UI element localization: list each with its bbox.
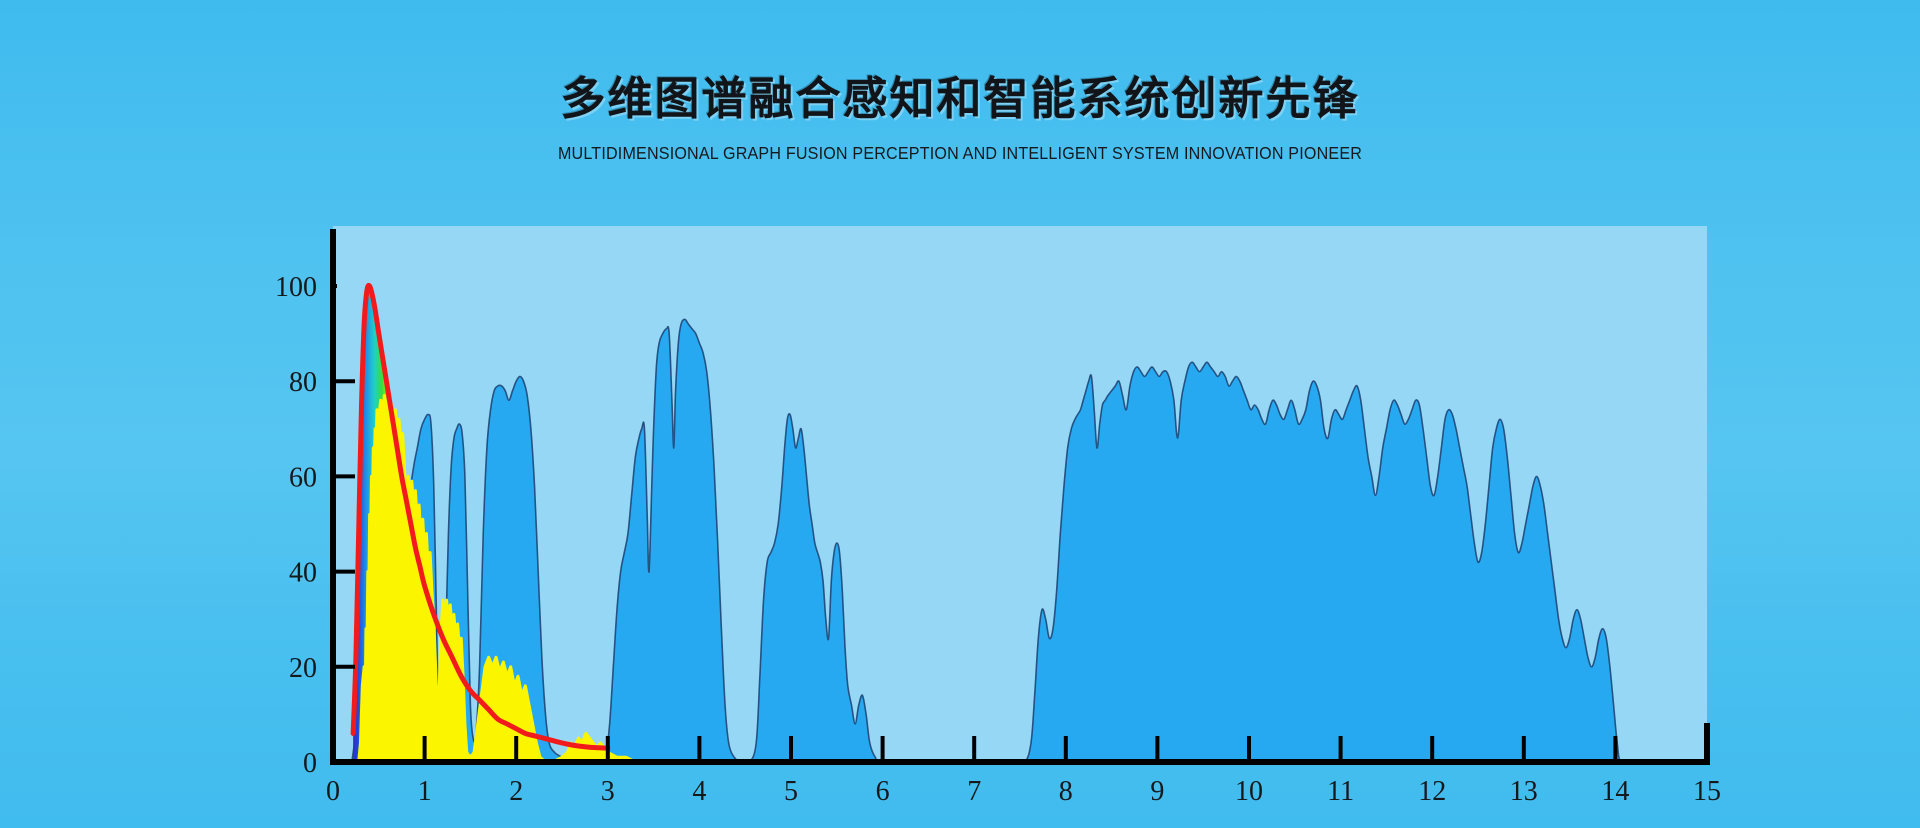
chart-page: 多维图谱融合感知和智能系统创新先锋 MULTIDIMENSIONAL GRAPH… [0, 0, 1920, 828]
x-tick-label: 10 [1235, 776, 1263, 807]
y-tick-label: 60 [289, 462, 317, 493]
x-tick-label: 2 [509, 776, 523, 807]
y-tick-label: 100 [275, 272, 317, 303]
y-tick-label: 40 [289, 558, 317, 589]
x-tick-label: 9 [1150, 776, 1164, 807]
x-tick-label: 1 [418, 776, 432, 807]
x-tick-label: 12 [1418, 776, 1446, 807]
x-tick-label: 7 [967, 776, 981, 807]
x-tick-label: 0 [326, 776, 340, 807]
x-tick-label: 6 [876, 776, 890, 807]
x-tick-label: 3 [601, 776, 615, 807]
x-tick-label: 15 [1693, 776, 1721, 807]
x-tick-label: 5 [784, 776, 798, 807]
y-tick-label: 0 [303, 748, 317, 779]
x-tick-label: 8 [1059, 776, 1073, 807]
x-tick-label: 11 [1327, 776, 1354, 807]
y-tick-label: 20 [289, 653, 317, 684]
x-tick-label: 4 [692, 776, 706, 807]
y-tick-label: 80 [289, 367, 317, 398]
x-tick-label: 13 [1510, 776, 1538, 807]
spectrum-chart: 0204060801000123456789101112131415 [0, 0, 1920, 828]
x-tick-label: 14 [1601, 776, 1629, 807]
